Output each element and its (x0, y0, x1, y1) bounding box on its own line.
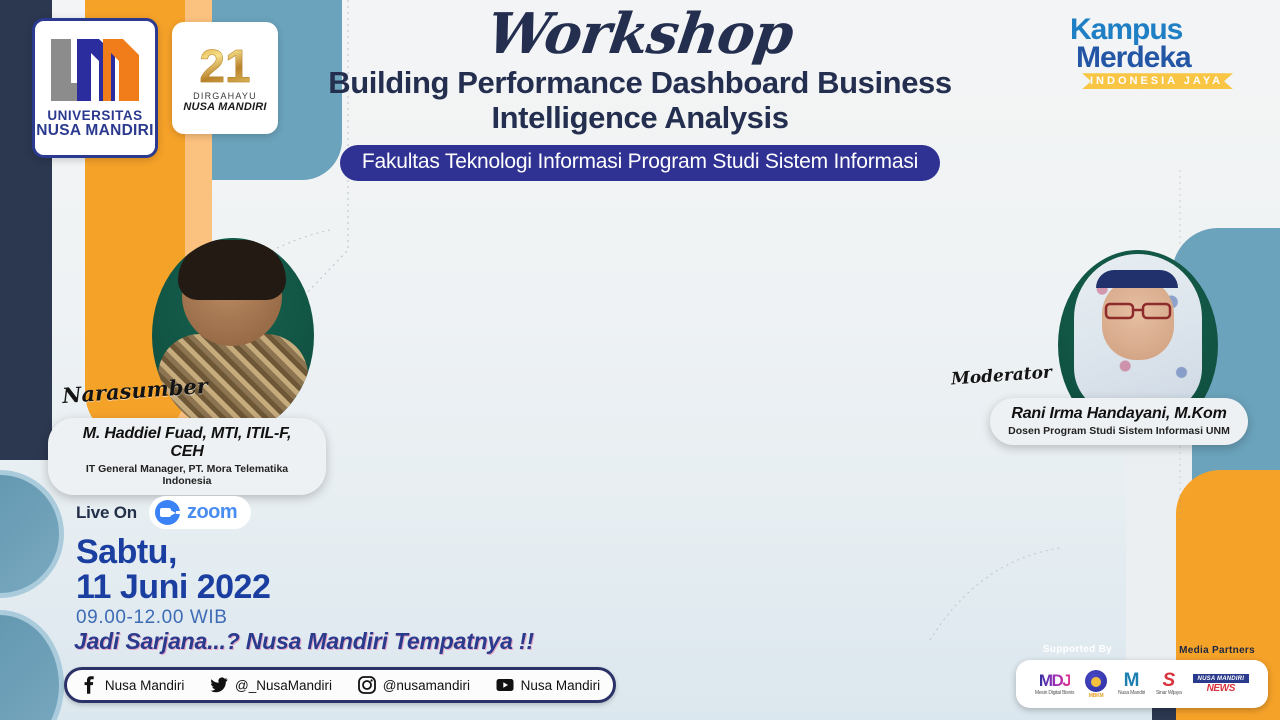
partner-logo-sw: S Sinar Wijaya (1156, 672, 1182, 696)
social-facebook[interactable]: Nusa Mandiri (80, 676, 185, 694)
event-date-line1: Sabtu, (76, 535, 270, 570)
nm-news-bottom: NEWS (1207, 683, 1235, 694)
partner-logo-mbkm: MBKM (1085, 670, 1107, 699)
speaker-name-card: M. Haddiel Fuad, MTI, ITIL-F, CEH IT Gen… (48, 418, 326, 495)
anniversary-line1: DIRGAHAYU (193, 91, 257, 101)
poster-canvas: UNIVERSITAS NUSA MANDIRI 21 DIRGAHAYU NU… (0, 0, 1280, 720)
anniversary-number: 21 (199, 43, 250, 89)
partner-mdj-name: Mesin Digital Bisnis (1035, 691, 1074, 696)
moderator-headband (1096, 270, 1178, 288)
moderator-ribbon-label: Moderator (950, 363, 1052, 390)
partner-logo-nusa-mandiri-news: NUSA MANDIRI NEWS (1193, 674, 1250, 694)
speaker-hair (178, 240, 286, 300)
event-time: 09.00-12.00 WIB (76, 607, 270, 629)
speaker-name: M. Haddiel Fuad, MTI, ITIL-F, CEH (66, 425, 308, 461)
moderator-name-card: Rani Irma Handayani, M.Kom Dosen Program… (990, 398, 1248, 445)
moderator-role: Dosen Program Studi Sistem Informasi UNM (1008, 425, 1230, 437)
faculty-subtitle-pill: Fakultas Teknologi Informasi Program Stu… (340, 145, 940, 181)
page-title: Building Performance Dashboard Business … (280, 66, 1000, 135)
speaker-role: IT General Manager, PT. Mora Telematika … (66, 463, 308, 487)
twitter-icon (210, 676, 228, 694)
unm-logo-card: UNIVERSITAS NUSA MANDIRI (32, 18, 158, 158)
social-youtube-label: Nusa Mandiri (521, 678, 601, 693)
moderator-glasses (1102, 302, 1174, 320)
kampus-merdeka-logo: Kampus Merdeka INDONESIA JAYA (1070, 16, 1250, 89)
facebook-icon (80, 676, 98, 694)
bg-teal-circle-upper (0, 470, 64, 598)
social-twitter[interactable]: @_NusaMandiri (210, 676, 332, 694)
kampus-merdeka-ribbon: INDONESIA JAYA (1082, 73, 1233, 89)
supported-by-label: Supported By (1043, 644, 1112, 655)
instagram-icon (358, 676, 376, 694)
speaker-photo (152, 238, 314, 433)
zoom-wordmark: zoom (187, 501, 237, 524)
partner-mandiri-name: Nusa Mandiri (1118, 691, 1145, 696)
partner-logos-bar: MDJ Mesin Digital Bisnis MBKM M Nusa Man… (1016, 660, 1268, 708)
unm-logo-text: UNIVERSITAS NUSA MANDIRI (36, 109, 154, 139)
partner-mdj-mark: MDJ (1039, 672, 1070, 689)
live-on-row: Live On zoom (76, 496, 270, 529)
partner-logo-mandiri: M Nusa Mandiri (1118, 672, 1145, 696)
partner-sw-mark: S (1162, 672, 1175, 689)
kampus-merdeka-line2: Merdeka (1076, 44, 1250, 72)
social-instagram[interactable]: @nusamandiri (358, 676, 470, 694)
social-media-bar: Nusa Mandiri @_NusaMandiri @nusamandiri … (64, 667, 616, 703)
nm-news-top: NUSA MANDIRI (1193, 674, 1250, 683)
zoom-camera-icon (155, 500, 180, 525)
title-block: Workshop Building Performance Dashboard … (280, 6, 1000, 181)
unm-logo-line2: NUSA MANDIRI (36, 123, 154, 139)
anniversary-line2: NUSA MANDIRI (183, 101, 266, 113)
media-partners-label: Media Partners (1179, 645, 1255, 656)
unm-logo-mark (47, 37, 143, 105)
partner-mandiri-mark: M (1124, 672, 1140, 689)
partner-mbkm-name: MBKM (1089, 694, 1104, 699)
event-date-line2: 11 Juni 2022 (76, 570, 270, 605)
social-twitter-label: @_NusaMandiri (235, 678, 332, 693)
mbkm-mascot-icon (1085, 670, 1107, 692)
anniversary-logo-card: 21 DIRGAHAYU NUSA MANDIRI (172, 22, 278, 134)
unm-logo-line1: UNIVERSITAS (36, 109, 154, 123)
kampus-merdeka-line1: Kampus (1070, 16, 1250, 44)
live-on-label: Live On (76, 503, 137, 523)
youtube-icon (496, 676, 514, 694)
tagline: Jadi Sarjana...? Nusa Mandiri Tempatnya … (74, 628, 534, 655)
bg-teal-circle-lower (0, 610, 64, 720)
social-instagram-label: @nusamandiri (383, 678, 470, 693)
zoom-logo: zoom (149, 496, 251, 529)
partner-sw-name: Sinar Wijaya (1156, 691, 1182, 696)
social-facebook-label: Nusa Mandiri (105, 678, 185, 693)
partner-logo-mdj: MDJ Mesin Digital Bisnis (1035, 672, 1074, 696)
event-date-block: Live On zoom Sabtu, 11 Juni 2022 09.00-1… (76, 496, 270, 629)
workshop-script-title: Workshop (276, 6, 1004, 62)
moderator-name: Rani Irma Handayani, M.Kom (1008, 405, 1230, 423)
social-youtube[interactable]: Nusa Mandiri (496, 676, 601, 694)
